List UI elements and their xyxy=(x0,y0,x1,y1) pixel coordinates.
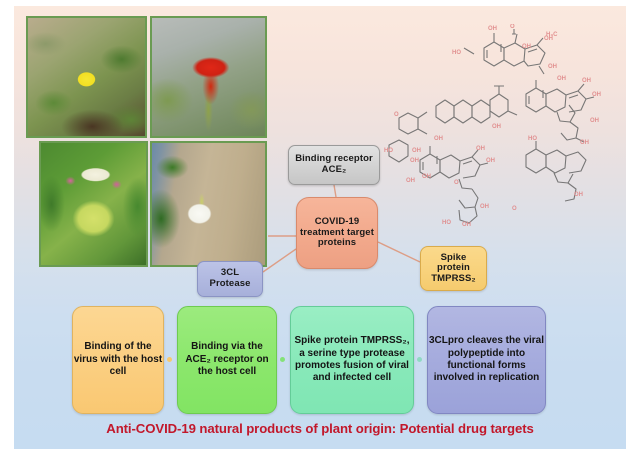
step-box-spike-protein-fusion[interactable]: Spike protein TMPRSS₂, a serine type pro… xyxy=(290,306,414,414)
svg-text:HO: HO xyxy=(384,148,393,154)
svg-text:O: O xyxy=(394,112,399,118)
quercetin-structure-icon xyxy=(464,29,545,74)
svg-text:OH: OH xyxy=(410,158,419,164)
node-spike-protein-tmprss2[interactable]: Spike protein TMPRSS₂ xyxy=(420,246,487,291)
svg-text:O: O xyxy=(454,180,459,186)
figure-root: OH O H₃C HO OH OH OH OH OH OH OH OH HO O… xyxy=(0,0,640,462)
step-separator-dot-3 xyxy=(417,357,422,362)
yellow-flower-photo xyxy=(26,16,147,138)
svg-text:OH: OH xyxy=(574,192,583,198)
step-separator-dot-1 xyxy=(167,357,172,362)
figure-caption: Anti-COVID-19 natural products of plant … xyxy=(14,421,626,436)
svg-text:OH: OH xyxy=(580,140,589,146)
svg-text:HO: HO xyxy=(452,50,461,56)
step-box-binding-via-ace2-label: Binding via the ACE₂ receptor on the hos… xyxy=(178,341,276,378)
svg-text:OH: OH xyxy=(557,76,566,82)
svg-text:OH: OH xyxy=(590,118,599,124)
step-box-binding-of-virus[interactable]: Binding of the virus with the host cell xyxy=(72,306,164,414)
step-box-spike-protein-fusion-label: Spike protein TMPRSS₂, a serine type pro… xyxy=(291,335,413,385)
step-box-3clpro-cleavage[interactable]: 3CLpro cleaves the viral polypeptide int… xyxy=(427,306,546,414)
step-box-binding-via-ace2[interactable]: Binding via the ACE₂ receptor on the hos… xyxy=(177,306,277,414)
svg-text:OH: OH xyxy=(522,44,531,50)
step-separator-dot-2 xyxy=(280,357,285,362)
node-binding-receptor-ace2[interactable]: Binding receptor ACE₂ xyxy=(288,145,380,185)
turmeric-flower-photo xyxy=(39,141,148,267)
svg-text:OH: OH xyxy=(488,26,497,32)
chemical-atom-labels: OH O H₃C HO OH OH OH OH OH OH OH OH HO O… xyxy=(384,24,601,228)
svg-text:OH: OH xyxy=(476,146,485,152)
svg-text:HO: HO xyxy=(528,136,537,142)
chemical-structures-group: OH O H₃C HO OH OH OH OH OH OH OH OH HO O… xyxy=(376,10,626,242)
node-spike-protein-tmprss2-label: Spike protein TMPRSS₂ xyxy=(421,253,486,285)
node-covid-treatment-target-proteins-label: COVID-19 treatment target proteins xyxy=(297,217,377,249)
svg-text:HO: HO xyxy=(442,220,451,226)
node-3cl-protease-label: 3CL Protease xyxy=(198,268,262,289)
red-flower-photo xyxy=(150,16,267,138)
svg-text:OH: OH xyxy=(486,158,495,164)
svg-text:O: O xyxy=(510,24,515,30)
svg-text:O: O xyxy=(512,206,517,212)
svg-text:OH: OH xyxy=(582,78,591,84)
svg-text:OH: OH xyxy=(592,92,601,98)
yellow-flower-photo-image xyxy=(28,18,145,136)
step-box-3clpro-cleavage-label: 3CLpro cleaves the viral polypeptide int… xyxy=(428,335,545,385)
red-flower-photo-image xyxy=(152,18,265,136)
svg-text:OH: OH xyxy=(462,222,471,228)
node-3cl-protease[interactable]: 3CL Protease xyxy=(197,261,263,297)
sugar-ring-structure-icon xyxy=(526,88,586,201)
flavonoid-glycoside-structure-icon xyxy=(526,80,594,142)
svg-text:OH: OH xyxy=(412,148,421,154)
node-covid-treatment-target-proteins[interactable]: COVID-19 treatment target proteins xyxy=(296,197,378,269)
svg-text:OH: OH xyxy=(548,64,557,70)
svg-text:OH: OH xyxy=(406,178,415,184)
white-flower-photo-image xyxy=(152,143,265,265)
svg-text:OH: OH xyxy=(480,204,489,210)
node-binding-receptor-ace2-label: Binding receptor ACE₂ xyxy=(289,154,379,175)
svg-text:OH: OH xyxy=(544,36,553,42)
step-box-binding-of-virus-label: Binding of the virus with the host cell xyxy=(73,341,163,378)
svg-text:OH: OH xyxy=(434,136,443,142)
svg-text:OH: OH xyxy=(492,124,501,130)
white-flower-photo xyxy=(150,141,267,267)
svg-text:OH: OH xyxy=(422,174,431,180)
turmeric-flower-photo-image xyxy=(41,143,146,265)
